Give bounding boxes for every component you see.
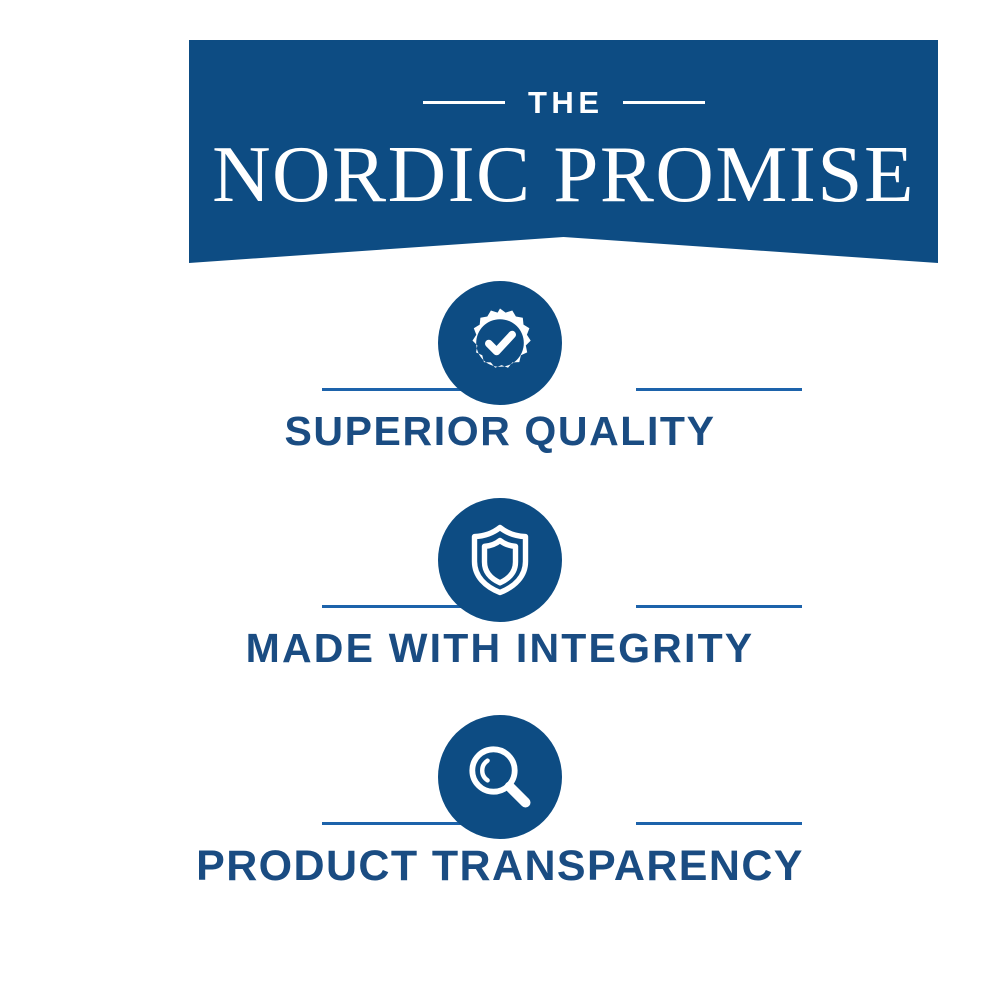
divider-line-right (636, 388, 802, 391)
magnifier-icon (463, 740, 537, 814)
banner-wordmark: NORDIC PROMISE (189, 134, 938, 215)
feature-label: MADE WITH INTEGRITY (0, 626, 1000, 671)
feature-item: SUPERIOR QUALITY (0, 281, 1000, 498)
banner-eyebrow-text: THE (524, 87, 604, 118)
badge-check-icon (463, 306, 537, 380)
eyebrow-rule-left (423, 101, 505, 104)
feature-badge (438, 715, 562, 839)
feature-label: SUPERIOR QUALITY (0, 409, 1000, 454)
feature-graphic (0, 281, 1000, 409)
feature-item: MADE WITH INTEGRITY (0, 498, 1000, 715)
feature-label: PRODUCT TRANSPARENCY (0, 843, 1000, 890)
feature-badge (438, 281, 562, 405)
feature-badge (438, 498, 562, 622)
banner-eyebrow-row: THE (189, 87, 938, 118)
eyebrow-rule-right (623, 101, 705, 104)
divider-line-right (636, 605, 802, 608)
shield-icon (464, 523, 536, 597)
banner: THE NORDIC PROMISE (189, 40, 938, 263)
divider-line-right (636, 822, 802, 825)
nordic-promise-infographic: THE NORDIC PROMISE SUPERIOR QUALITY (0, 0, 1000, 1000)
feature-item: PRODUCT TRANSPARENCY (0, 715, 1000, 932)
feature-graphic (0, 715, 1000, 843)
feature-graphic (0, 498, 1000, 626)
feature-list: SUPERIOR QUALITY MADE WITH INTEGRITY (0, 281, 1000, 932)
